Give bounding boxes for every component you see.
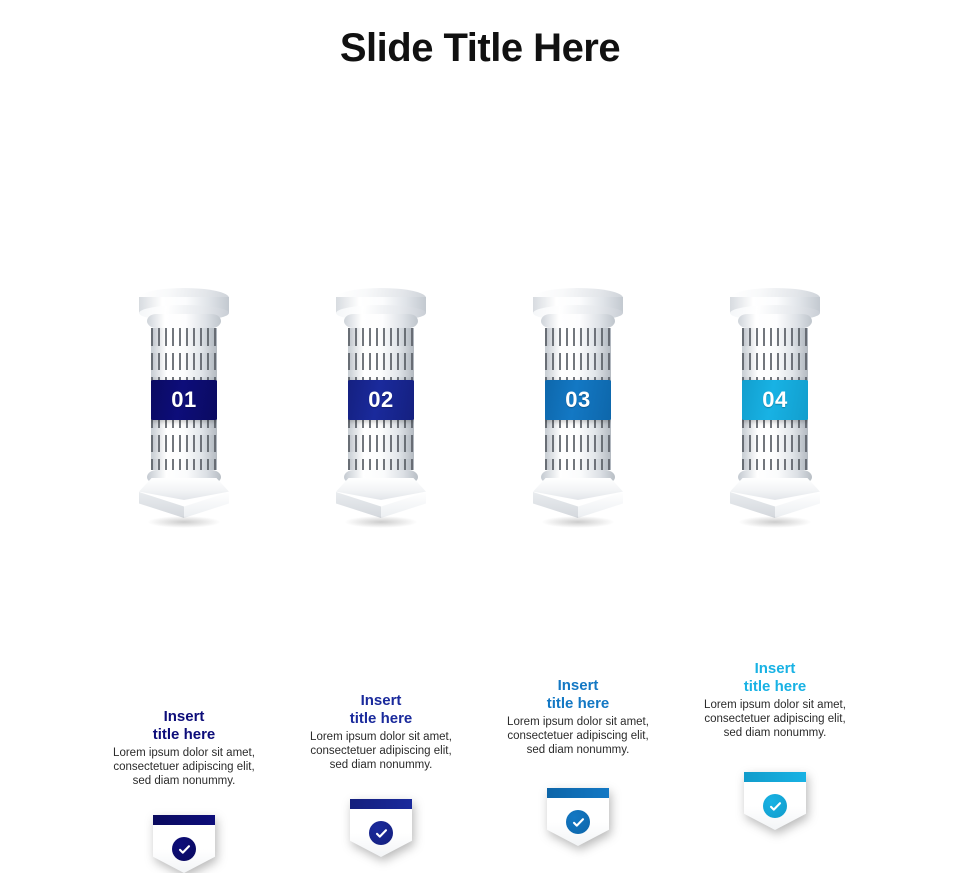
pillar-shadow — [147, 516, 221, 528]
pillar-shadow — [541, 516, 615, 528]
page-title: Slide Title Here — [0, 26, 960, 71]
pillar-number-label: 04 — [762, 387, 787, 413]
column-body-text: Lorem ipsum dolor sit amet, consectetuer… — [84, 746, 284, 788]
column-banner[interactable] — [547, 788, 609, 846]
pillar-graphic: 04 — [730, 288, 820, 518]
pillar-number-badge: 02 — [348, 380, 414, 420]
column-title-line2: title here — [478, 695, 678, 713]
banner-flag — [547, 788, 609, 846]
column-title: Insert title here — [84, 708, 284, 744]
pillar-shaft: 02 — [348, 328, 414, 470]
column-title-line2: title here — [281, 710, 481, 728]
banner-flag — [744, 772, 806, 830]
column-title: Insert title here — [675, 660, 875, 696]
pillar-base — [139, 478, 229, 518]
check-icon — [172, 837, 196, 861]
column-title-line1: Insert — [675, 660, 875, 678]
pillar-base — [533, 478, 623, 518]
banner-top-bar — [744, 772, 806, 782]
column-body-text: Lorem ipsum dolor sit amet, consectetuer… — [675, 698, 875, 740]
check-icon — [763, 794, 787, 818]
pillar-neck — [344, 314, 418, 328]
pillar-shaft: 04 — [742, 328, 808, 470]
pillar-neck — [147, 314, 221, 328]
column-title-line2: title here — [84, 726, 284, 744]
pillar-shadow — [738, 516, 812, 528]
pillar-neck — [541, 314, 615, 328]
pillar-base — [730, 478, 820, 518]
banner-flag — [153, 815, 215, 873]
column-body-text: Lorem ipsum dolor sit amet, consectetuer… — [478, 715, 678, 757]
column-title-line1: Insert — [478, 677, 678, 695]
pillar-graphic: 03 — [533, 288, 623, 518]
pillar-graphic: 01 — [139, 288, 229, 518]
column-banner[interactable] — [350, 799, 412, 857]
column-text-block: Insert title here Lorem ipsum dolor sit … — [675, 660, 875, 740]
check-icon — [369, 821, 393, 845]
banner-top-bar — [547, 788, 609, 798]
pillar-number-label: 03 — [565, 387, 590, 413]
column-text-block: Insert title here Lorem ipsum dolor sit … — [478, 677, 678, 757]
pillar-number-label: 02 — [368, 387, 393, 413]
column-title-line1: Insert — [84, 708, 284, 726]
check-icon — [566, 810, 590, 834]
column-title: Insert title here — [478, 677, 678, 713]
pillar-shaft: 03 — [545, 328, 611, 470]
column-title: Insert title here — [281, 692, 481, 728]
pillar-number-badge: 03 — [545, 380, 611, 420]
column-title-line1: Insert — [281, 692, 481, 710]
pillar-number-label: 01 — [171, 387, 196, 413]
banner-flag — [350, 799, 412, 857]
banner-top-bar — [350, 799, 412, 809]
column-body-text: Lorem ipsum dolor sit amet, consectetuer… — [281, 730, 481, 772]
pillar-neck — [738, 314, 812, 328]
pillar-number-badge: 04 — [742, 380, 808, 420]
pillar-graphic: 02 — [336, 288, 426, 518]
column-title-line2: title here — [675, 678, 875, 696]
slide-canvas: Slide Title Here Insert title here Lorem… — [0, 0, 960, 540]
column-text-block: Insert title here Lorem ipsum dolor sit … — [84, 708, 284, 788]
column-banner[interactable] — [153, 815, 215, 873]
pillar-shaft: 01 — [151, 328, 217, 470]
pillar-number-badge: 01 — [151, 380, 217, 420]
column-text-block: Insert title here Lorem ipsum dolor sit … — [281, 692, 481, 772]
column-banner[interactable] — [744, 772, 806, 830]
banner-top-bar — [153, 815, 215, 825]
pillar-shadow — [344, 516, 418, 528]
pillar-base — [336, 478, 426, 518]
